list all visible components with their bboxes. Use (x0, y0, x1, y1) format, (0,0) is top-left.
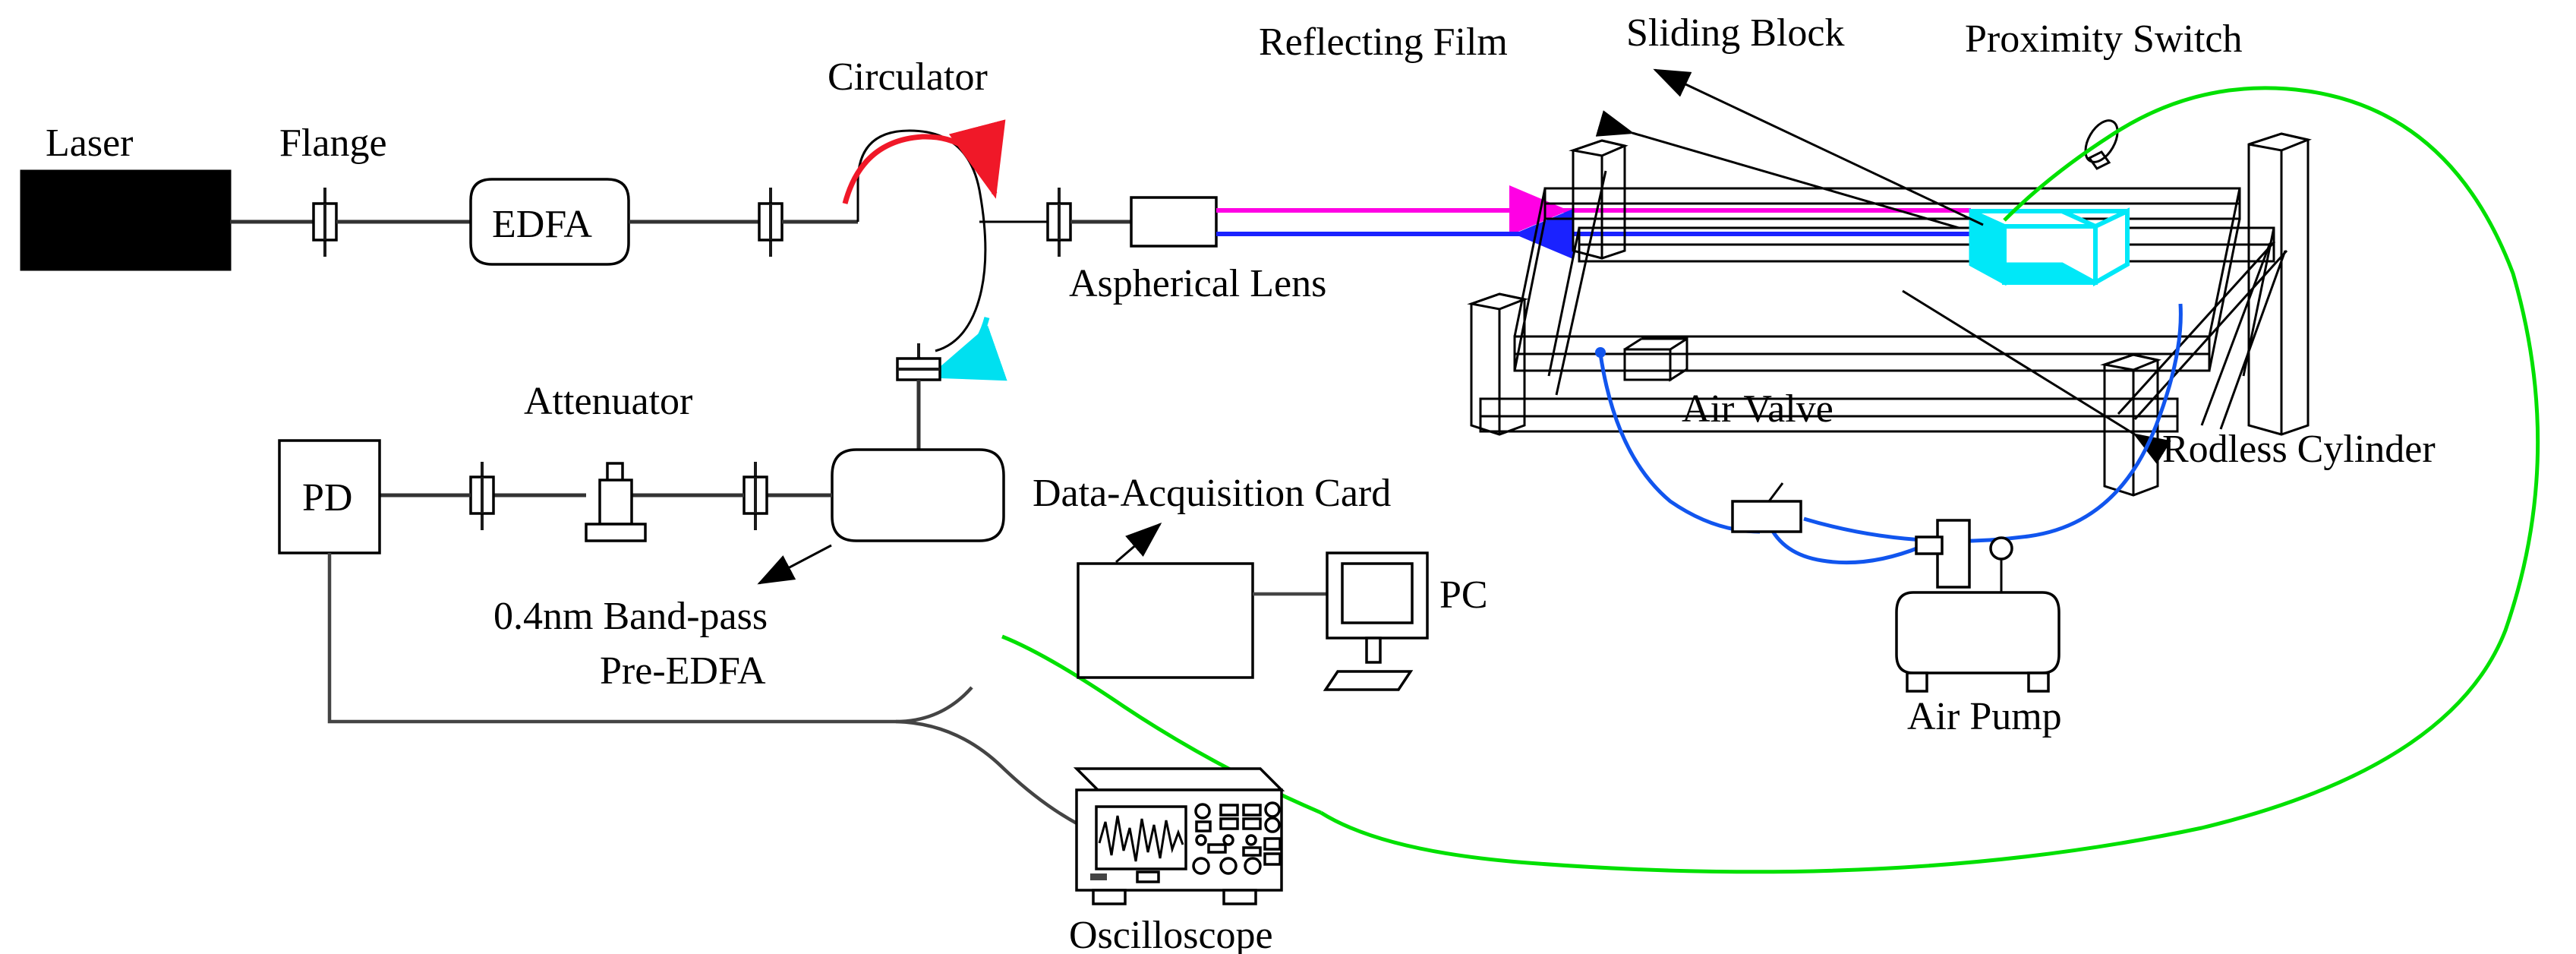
figure-root: Laser Flange EDFA Circulato (0, 0, 2576, 954)
experimental-setup-diagram: Laser Flange EDFA Circulato (0, 0, 2576, 954)
proximity-switch-label: Proximity Switch (1965, 17, 2242, 61)
pc-label: PC (1439, 573, 1488, 617)
sliding-block-label: Sliding Block (1626, 11, 1844, 55)
attenuator-label: Attenuator (524, 380, 692, 423)
sliding-block (1971, 211, 2127, 283)
flange-label: Flange (279, 122, 387, 165)
daq-card (1078, 564, 1253, 678)
bandpass-label-line2: Pre-EDFA (600, 649, 766, 693)
aspherical-lens (1131, 197, 1216, 246)
pre-edfa (832, 450, 1004, 541)
circulator-label: Circulator (828, 55, 988, 99)
reflecting-film-label: Reflecting Film (1259, 21, 1508, 64)
pd-label: PD (302, 476, 352, 520)
rodless-cylinder-label: Rodless Cylinder (2162, 428, 2436, 471)
laser-source (21, 171, 230, 270)
oscilloscope-label: Oscilloscope (1069, 914, 1273, 954)
oscilloscope (1077, 769, 1282, 904)
air-port-left (1595, 347, 1606, 358)
air-valve-label: Air Valve (1682, 387, 1833, 431)
bandpass-label-line1: 0.4nm Band-pass (493, 595, 768, 638)
edfa-label: EDFA (492, 203, 592, 246)
daq-label: Data-Acquisition Card (1033, 472, 1391, 515)
aspherical-lens-label: Aspherical Lens (1069, 262, 1326, 305)
laser-label: Laser (46, 122, 133, 165)
air-pump-label: Air Pump (1907, 695, 2062, 738)
